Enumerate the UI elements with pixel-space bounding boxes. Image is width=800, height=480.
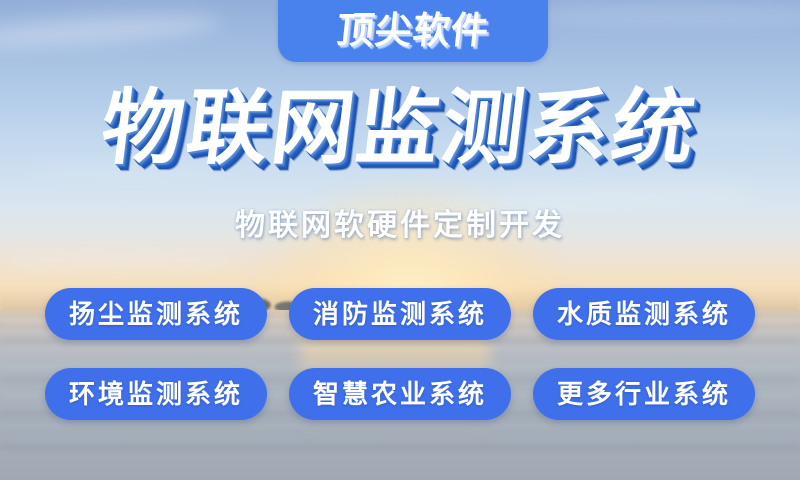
headline-container: 物联网监测系统: [0, 88, 800, 170]
pill-more-industry-systems[interactable]: 更多行业系统: [533, 368, 755, 420]
pill-label: 更多行业系统: [557, 381, 731, 407]
category-pill-row-1: 扬尘监测系统 消防监测系统 水质监测系统: [0, 288, 800, 340]
pill-dust-monitoring[interactable]: 扬尘监测系统: [45, 288, 267, 340]
water-ripple: [0, 452, 800, 457]
pill-environment-monitoring[interactable]: 环境监测系统: [45, 368, 267, 420]
pill-smart-agriculture[interactable]: 智慧农业系统: [289, 368, 511, 420]
category-pill-row-2: 环境监测系统 智慧农业系统 更多行业系统: [0, 368, 800, 420]
pill-fire-monitoring[interactable]: 消防监测系统: [289, 288, 511, 340]
pill-label: 环境监测系统: [69, 381, 243, 407]
brand-badge: 顶尖软件: [278, 0, 548, 62]
category-pill-grid: 扬尘监测系统 消防监测系统 水质监测系统 环境监测系统 智慧农业系统 更多行业系…: [0, 288, 800, 448]
pill-water-quality-monitoring[interactable]: 水质监测系统: [533, 288, 755, 340]
pill-label: 扬尘监测系统: [69, 301, 243, 327]
cloud-streak-icon: [0, 252, 240, 266]
promo-banner: 顶尖软件 物联网监测系统 物联网软硬件定制开发 扬尘监测系统 消防监测系统 水质…: [0, 0, 800, 480]
page-title: 物联网监测系统: [97, 88, 702, 170]
subheadline-container: 物联网软硬件定制开发: [0, 207, 800, 245]
pill-label: 消防监测系统: [313, 301, 487, 327]
pill-label: 水质监测系统: [557, 301, 731, 327]
brand-badge-label: 顶尖软件: [335, 12, 491, 49]
page-subtitle: 物联网软硬件定制开发: [235, 207, 565, 245]
pill-label: 智慧农业系统: [313, 381, 487, 407]
